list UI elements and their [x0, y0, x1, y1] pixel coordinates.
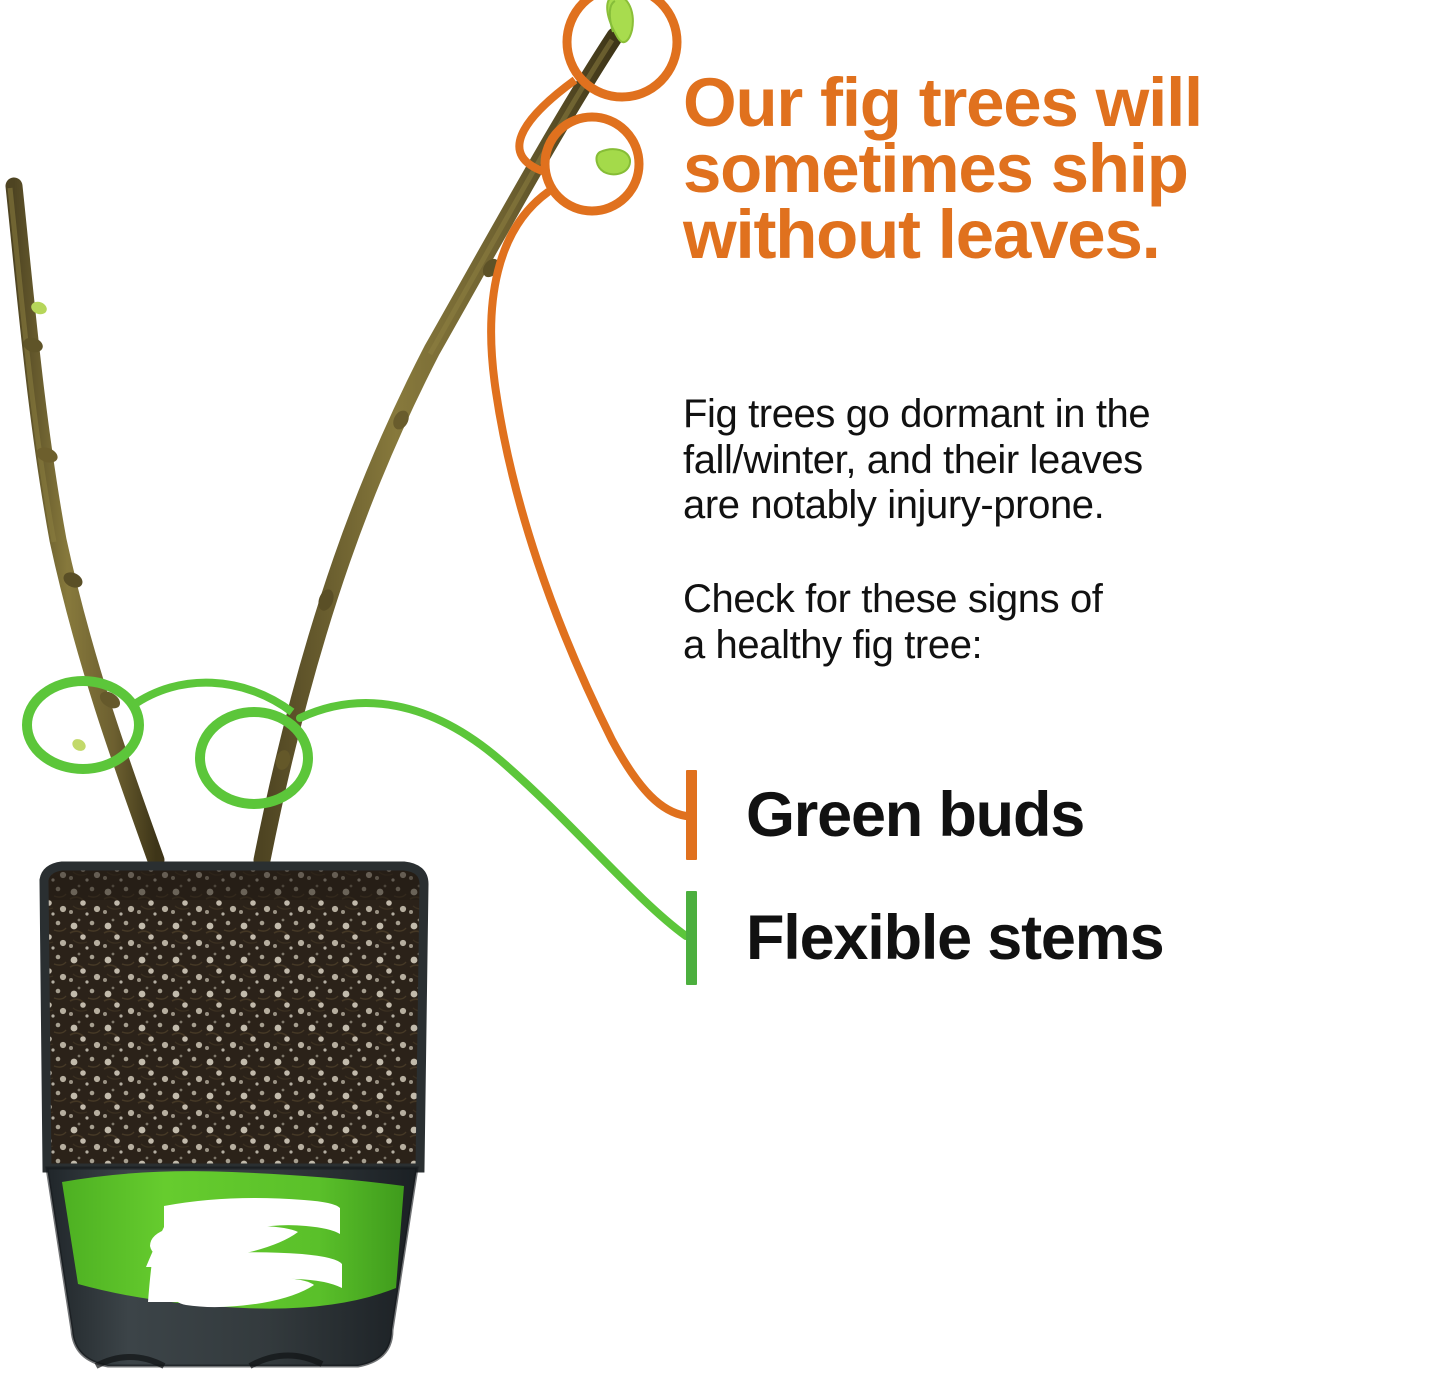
fig-stem-right [262, 36, 615, 860]
dormancy-description: Fig trees go dormant in the fall/winter,… [683, 392, 1383, 529]
orange-connector-upper [519, 80, 575, 172]
orange-annotation-group [491, 0, 686, 816]
green-circle-stem-right [200, 712, 308, 804]
nursery-pot [47, 1168, 417, 1366]
green-shoot-in-soil [278, 862, 334, 893]
callout-label-flexible-stems: Flexible stems [746, 907, 1163, 970]
text-column: Our fig trees will sometimes ship withou… [683, 70, 1423, 269]
callout-label-green-buds: Green buds [746, 784, 1084, 847]
pot-rim [44, 866, 424, 1168]
callout-bar-orange [686, 770, 697, 860]
green-bud-node [597, 149, 631, 174]
callout-bar-green [686, 891, 697, 985]
fig-stem-left [10, 186, 156, 860]
callout-flexible-stems: Flexible stems [686, 891, 1163, 985]
orange-connector-to-label [491, 192, 686, 816]
callout-green-buds: Green buds [686, 770, 1084, 860]
potting-soil [30, 855, 440, 1185]
pot-label-band [62, 1171, 404, 1308]
green-circle-stem-left [27, 681, 139, 769]
green-connector-between-circles [132, 683, 292, 712]
green-bud-tip [607, 0, 633, 42]
page-title: Our fig trees will sometimes ship withou… [683, 70, 1423, 269]
orange-circle-bud-node [545, 117, 639, 211]
infographic-canvas: Our fig trees will sometimes ship withou… [0, 0, 1445, 1396]
brand-logo [146, 1198, 342, 1307]
green-annotation-group [27, 681, 686, 936]
health-check-intro: Check for these signs of a healthy fig t… [683, 577, 1343, 668]
orange-circle-bud-tip [567, 0, 677, 97]
green-connector-to-label [300, 703, 686, 936]
